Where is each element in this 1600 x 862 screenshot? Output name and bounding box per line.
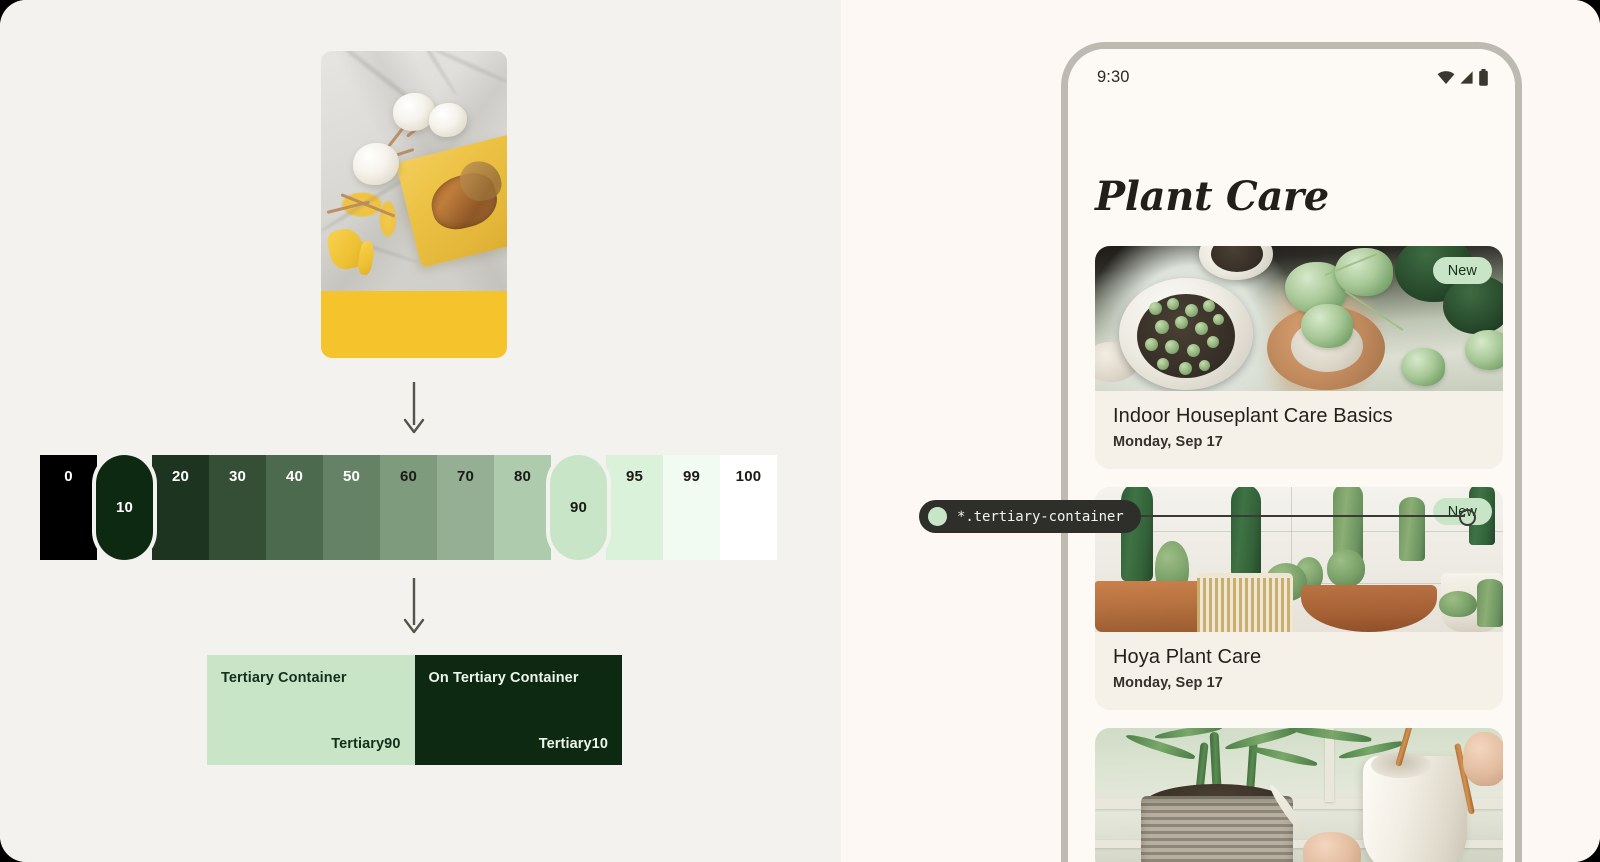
palette-swatch-50[interactable]: 50	[323, 455, 380, 560]
status-bar-icons	[1437, 69, 1489, 86]
card-image: New	[1095, 246, 1503, 391]
palette-swatch-10[interactable]: 10	[96, 455, 153, 560]
card-body: Hoya Plant Care Monday, Sep 17	[1095, 632, 1503, 710]
palette-swatch-label: 90	[570, 500, 587, 515]
cellular-signal-icon	[1459, 70, 1474, 85]
beeswax-block	[396, 134, 507, 267]
wifi-icon	[1437, 70, 1455, 85]
token-name: Tertiary Container	[221, 670, 401, 686]
palette-swatch-label: 30	[229, 469, 246, 484]
palette-swatch-label: 50	[343, 469, 360, 484]
list-item[interactable]: New Hoya Plant Care Monday, Sep 17	[1095, 487, 1503, 710]
phone-screen: 9:30 Plant Care	[1068, 49, 1515, 862]
palette-swatch-80[interactable]: 80	[494, 455, 551, 560]
tonal-palette-row: 01020304050607080909599100	[40, 455, 777, 560]
token-cards-row: Tertiary ContainerTertiary90On Tertiary …	[207, 655, 622, 765]
palette-swatch-40[interactable]: 40	[266, 455, 323, 560]
card-title: Indoor Houseplant Care Basics	[1113, 405, 1485, 428]
palette-swatch-label: 60	[400, 469, 417, 484]
palette-swatch-label: 95	[626, 469, 643, 484]
palette-swatch-label: 70	[457, 469, 474, 484]
page-title: Plant Care	[1095, 173, 1329, 220]
card-date: Monday, Sep 17	[1113, 675, 1485, 691]
flow-arrow-down	[399, 578, 429, 634]
list-item[interactable]	[1095, 728, 1503, 862]
palette-swatch-label: 99	[683, 469, 700, 484]
extracted-color-swatch	[321, 291, 507, 358]
dried-flower	[429, 103, 467, 137]
battery-icon	[1478, 69, 1489, 86]
palette-swatch-label: 20	[172, 469, 189, 484]
token-name: On Tertiary Container	[429, 670, 609, 686]
source-image-card	[321, 51, 507, 358]
phone-mockup: 9:30 Plant Care	[1061, 42, 1522, 862]
token-card[interactable]: Tertiary ContainerTertiary90	[207, 655, 415, 765]
palette-swatch-90[interactable]: 90	[550, 455, 607, 560]
card-image: New	[1095, 487, 1503, 632]
status-badge: New	[1433, 257, 1492, 284]
dried-flower	[353, 143, 399, 185]
status-bar-time: 9:30	[1097, 68, 1130, 87]
palette-swatch-label: 0	[64, 469, 73, 484]
card-date: Monday, Sep 17	[1113, 434, 1485, 450]
palette-swatch-label: 40	[286, 469, 303, 484]
status-bar: 9:30	[1068, 49, 1515, 105]
annotation-target-dot	[1459, 509, 1476, 526]
palette-swatch-label: 80	[514, 469, 531, 484]
token-selector-label: *.tertiary-container	[957, 509, 1124, 525]
palette-swatch-95[interactable]: 95	[606, 455, 663, 560]
token-annotation-chip[interactable]: *.tertiary-container	[919, 500, 1141, 533]
card-title: Hoya Plant Care	[1113, 646, 1485, 669]
palette-swatch-30[interactable]: 30	[209, 455, 266, 560]
palette-swatch-99[interactable]: 99	[663, 455, 720, 560]
plant-care-card-list: New Indoor Houseplant Care Basics Monday…	[1095, 246, 1503, 862]
card-body: Indoor Houseplant Care Basics Monday, Se…	[1095, 391, 1503, 469]
palette-derivation-panel: 01020304050607080909599100 Tertiary Cont…	[0, 0, 841, 862]
card-image	[1095, 728, 1503, 862]
flow-arrow-down	[399, 382, 429, 434]
palette-swatch-20[interactable]: 20	[152, 455, 209, 560]
token-card[interactable]: On Tertiary ContainerTertiary10	[415, 655, 623, 765]
source-photo	[321, 51, 507, 291]
token-color-swatch-icon	[928, 507, 947, 526]
token-reference: Tertiary10	[429, 736, 609, 752]
palette-swatch-70[interactable]: 70	[437, 455, 494, 560]
palette-swatch-60[interactable]: 60	[380, 455, 437, 560]
palette-swatch-0[interactable]: 0	[40, 455, 97, 560]
list-item[interactable]: New Indoor Houseplant Care Basics Monday…	[1095, 246, 1503, 469]
token-reference: Tertiary90	[221, 736, 401, 752]
palette-swatch-100[interactable]: 100	[720, 455, 777, 560]
annotation-leader-line	[1135, 515, 1465, 517]
palette-swatch-label: 10	[116, 500, 133, 515]
screenshot-canvas: 01020304050607080909599100 Tertiary Cont…	[0, 0, 1600, 862]
palette-swatch-label: 100	[736, 469, 762, 484]
